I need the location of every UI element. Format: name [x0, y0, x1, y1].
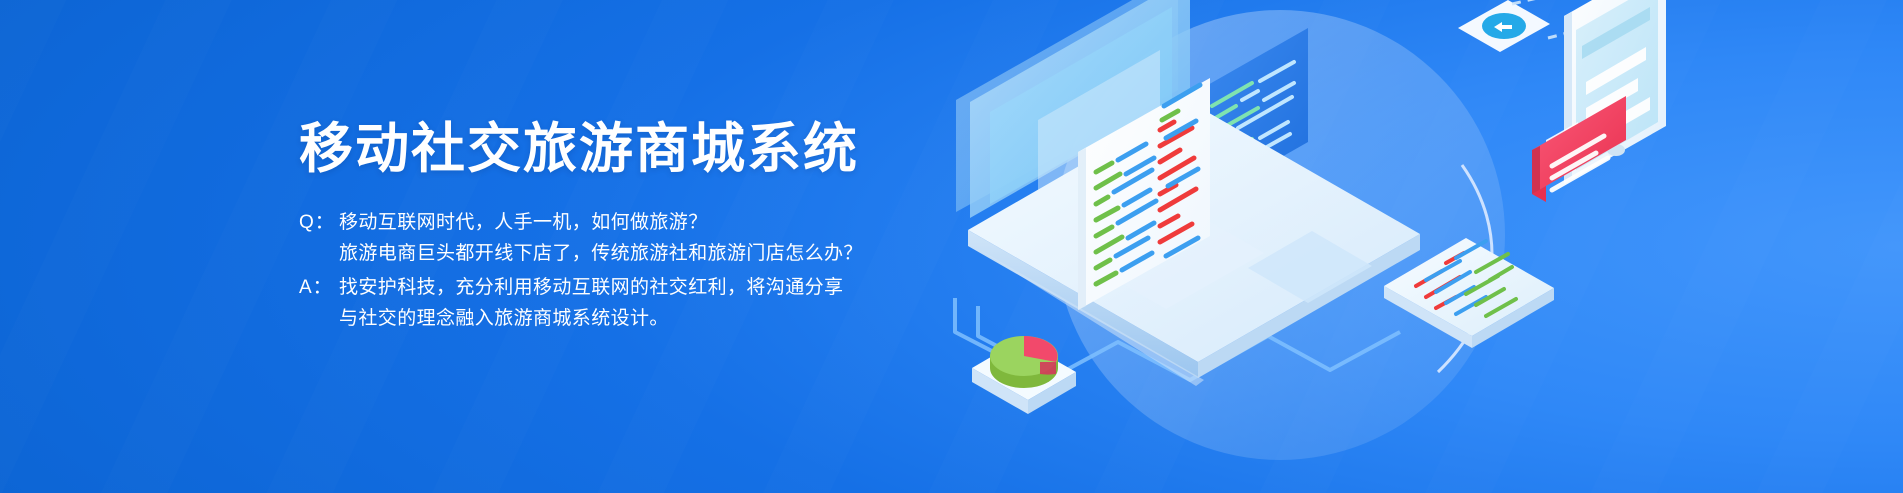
pie-chart-slice-side [1040, 362, 1056, 375]
chat-bubble-side [1532, 146, 1540, 194]
qa-text: 与社交的理念融入旅游商城系统设计。 [339, 304, 669, 334]
qa-list: Q： 移动互联网时代，人手一机，如何做旅游？ Q： 旅游电商巨头都开线下店了，传… [299, 208, 939, 334]
qa-answer: A： 找安护科技，充分利用移动互联网的社交红利，将沟通分享 A： 与社交的理念融… [299, 273, 939, 334]
qa-text: 移动互联网时代，人手一机，如何做旅游？ [339, 208, 708, 238]
page-title: 移动社交旅游商城系统 [299, 118, 939, 182]
hero-illustration [860, 0, 1903, 493]
qa-row: A： 找安护科技，充分利用移动互联网的社交红利，将沟通分享 [299, 273, 939, 303]
qa-question: Q： 移动互联网时代，人手一机，如何做旅游？ Q： 旅游电商巨头都开线下店了，传… [299, 208, 939, 269]
qa-row: Q： 旅游电商巨头都开线下店了，传统旅游社和旅游门店怎么办？ [299, 239, 939, 269]
qa-text: 旅游电商巨头都开线下店了，传统旅游社和旅游门店怎么办？ [339, 239, 863, 269]
qa-label-a: A： [299, 273, 339, 303]
hero-copy: 移动社交旅游商城系统 Q： 移动互联网时代，人手一机，如何做旅游？ Q： 旅游电… [299, 118, 939, 338]
code-document-edge [1078, 148, 1086, 310]
qa-row: Q： 移动互联网时代，人手一机，如何做旅游？ [299, 208, 939, 238]
qa-label-q: Q： [299, 208, 339, 238]
qa-row: A： 与社交的理念融入旅游商城系统设计。 [299, 304, 939, 334]
qa-text: 找安护科技，充分利用移动互联网的社交红利，将沟通分享 [339, 273, 843, 303]
hero-banner: 移动社交旅游商城系统 Q： 移动互联网时代，人手一机，如何做旅游？ Q： 旅游电… [0, 0, 1903, 493]
